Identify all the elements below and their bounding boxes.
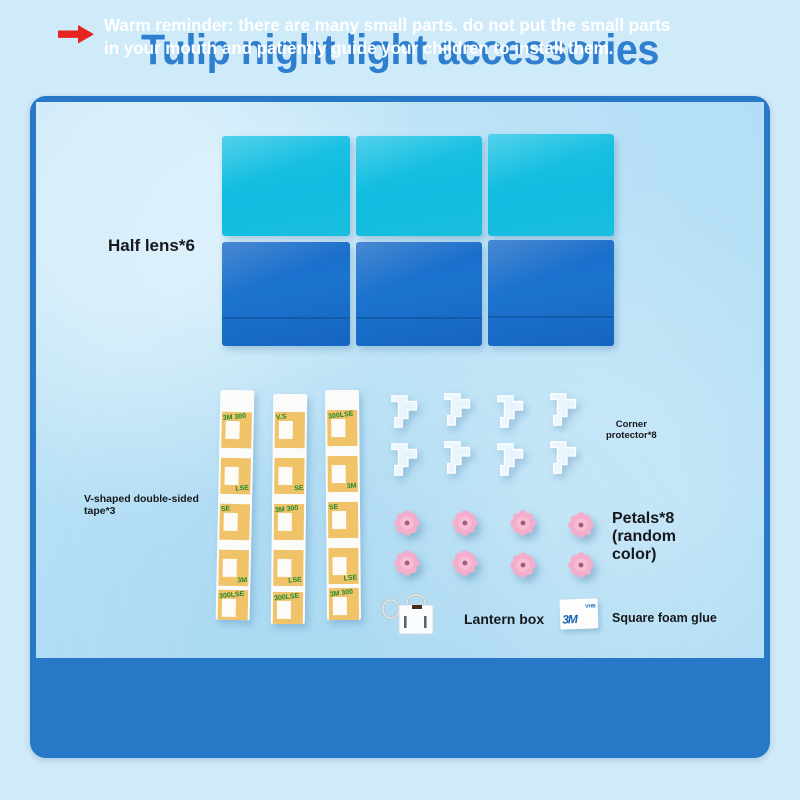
petal-1 — [394, 510, 420, 536]
product-photo: Half lens*6 3M 300 LSE SE 3M 300LSE V.S … — [36, 102, 764, 658]
square-foam-glue: 3M VHB — [559, 598, 598, 629]
corner-protector-label-line2: protector*8 — [606, 431, 657, 442]
half-lens-3 — [488, 134, 614, 236]
tape-print: 3M 300 — [275, 505, 299, 515]
corner-protector-4 — [547, 388, 585, 428]
half-lens-1 — [222, 136, 350, 236]
tape-print: 300LSE — [328, 410, 354, 420]
3m-sub-text: VHB — [585, 603, 596, 610]
petals-label: Petals*8 (random color) — [612, 510, 676, 564]
lantern-box-label: Lantern box — [464, 612, 544, 628]
corner-protector-2 — [441, 388, 479, 428]
tape-print: 300LSE — [219, 591, 245, 601]
half-lens-5 — [356, 242, 482, 346]
corner-protector-8 — [547, 436, 585, 476]
tape-print: LSE — [236, 485, 250, 493]
warning-text: Warm reminder: there are many small part… — [104, 14, 676, 61]
petal-7 — [510, 552, 536, 578]
tape-print: SE — [294, 485, 304, 493]
half-lens-6 — [488, 240, 614, 346]
petals-label-line2: (random — [612, 528, 676, 546]
corner-protector-5 — [388, 438, 426, 478]
half-lens-2 — [356, 136, 482, 236]
petal-2 — [452, 510, 478, 536]
half-lens-4 — [222, 242, 350, 346]
tape-strip-2: V.S SE 3M 300 LSE 300LSE — [271, 394, 307, 624]
tape-print: 3M — [347, 482, 357, 490]
tape-print: 3M — [237, 577, 247, 585]
tape-print: 300LSE — [274, 593, 300, 603]
corner-protector-3 — [494, 390, 532, 430]
3m-logo: 3M — [562, 612, 577, 627]
corner-protector-6 — [441, 436, 479, 476]
tape-print: V.S — [276, 413, 287, 421]
corner-protector-7 — [494, 438, 532, 478]
corner-protector-label: Corner protector*8 — [606, 420, 657, 441]
tape-label-line1: V-shaped double-sided — [84, 494, 199, 506]
petal-4 — [568, 512, 594, 538]
petals-label-line3: color) — [612, 546, 676, 564]
warning-banner — [36, 660, 764, 754]
tape-label-line2: tape*3 — [84, 506, 199, 518]
petal-5 — [394, 550, 420, 576]
tape-print: SE — [221, 505, 231, 513]
petal-3 — [510, 510, 536, 536]
square-foam-glue-label: Square foam glue — [612, 611, 717, 625]
corner-protector-1 — [388, 390, 426, 430]
petals-label-line1: Petals*8 — [612, 510, 676, 528]
tape-print: 3M 300 — [329, 589, 353, 599]
tape-print: SE — [329, 504, 339, 512]
tape-strip-3: 300LSE 3M SE LSE 3M 300 — [325, 390, 361, 620]
red-arrow-icon — [58, 24, 94, 44]
tape-print: LSE — [344, 574, 358, 582]
tape-label: V-shaped double-sided tape*3 — [84, 494, 199, 518]
petal-8 — [568, 552, 594, 578]
tape-print: 3M 300 — [223, 413, 247, 422]
half-lens-label: Half lens*6 — [108, 236, 195, 255]
tape-strip-1: 3M 300 LSE SE 3M 300LSE — [216, 390, 255, 621]
lantern-box — [376, 592, 442, 638]
product-infographic: Tulip night light accessories Half lens*… — [0, 0, 800, 800]
petal-6 — [452, 550, 478, 576]
tape-print: LSE — [288, 577, 302, 585]
